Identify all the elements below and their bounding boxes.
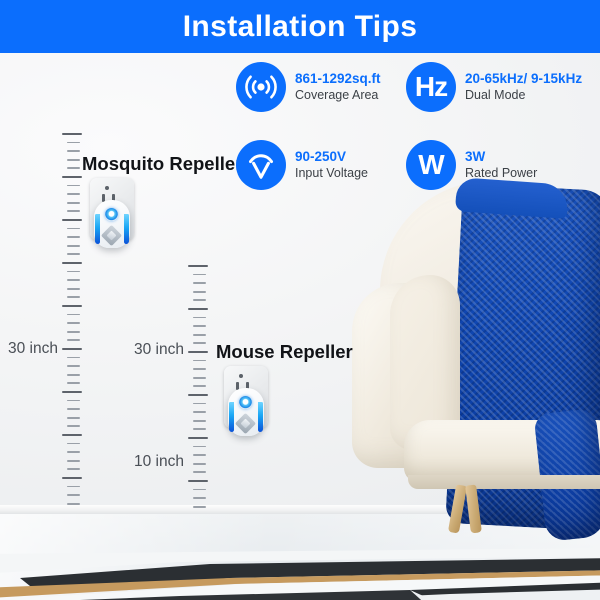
- ruler-tick-minor: [67, 150, 80, 152]
- header-banner: Installation Tips: [0, 0, 600, 53]
- ruler-tick-minor: [193, 360, 206, 362]
- ruler-tick-minor: [193, 446, 206, 448]
- ruler-tick-minor: [67, 486, 80, 488]
- badge-power-text: 3W Rated Power: [465, 149, 537, 181]
- ruler-tick-minor: [67, 253, 80, 255]
- badge-dual-mode-text: 20-65kHz/ 9-15kHz Dual Mode: [465, 71, 582, 103]
- voltage-v-icon: [236, 140, 286, 190]
- ruler-tick-major: [62, 434, 82, 436]
- ruler-tick-minor: [67, 331, 80, 333]
- ruler-tick-minor: [193, 368, 206, 370]
- ruler-tick-major: [62, 176, 82, 178]
- power-indicator-icon: [105, 208, 118, 221]
- ruler-tick-major: [188, 351, 208, 353]
- badge-voltage-caption: Input Voltage: [295, 166, 368, 181]
- ruler-tick-minor: [67, 365, 80, 367]
- ruler-tick-minor: [193, 334, 206, 336]
- badge-power-value: 3W: [465, 149, 537, 165]
- badge-rated-power: W 3W Rated Power: [406, 140, 537, 190]
- ruler-tick-minor: [193, 403, 206, 405]
- ruler-tick-minor: [67, 460, 80, 462]
- led-glow-left: [95, 214, 100, 244]
- infographic-canvas: Installation Tips 30 inch 30 inch 10 inc…: [0, 0, 600, 600]
- right-ruler: [188, 265, 212, 513]
- badge-coverage-caption: Coverage Area: [295, 88, 381, 103]
- measurement-label-left-30inch: 30 inch: [8, 340, 58, 358]
- badge-voltage-value: 90-250V: [295, 149, 368, 165]
- badge-dual-mode: Hz 20-65kHz/ 9-15kHz Dual Mode: [406, 62, 582, 112]
- ruler-tick-minor: [67, 451, 80, 453]
- ruler-tick-minor: [67, 271, 80, 273]
- chair-base-rail: [408, 475, 600, 489]
- badge-dual-mode-caption: Dual Mode: [465, 88, 582, 103]
- ruler-tick-minor: [67, 202, 80, 204]
- mosquito-repeller-label: Mosquito Repeller: [82, 153, 242, 175]
- ruler-tick-minor: [193, 342, 206, 344]
- ruler-tick-minor: [67, 374, 80, 376]
- ruler-tick-minor: [193, 497, 206, 499]
- ruler-tick-minor: [193, 463, 206, 465]
- mosquito-repeller-device: [90, 178, 136, 248]
- ruler-tick-minor: [193, 317, 206, 319]
- ruler-tick-minor: [67, 314, 80, 316]
- badge-coverage-area: 861-1292sq.ft Coverage Area: [236, 62, 381, 112]
- ruler-tick-minor: [193, 420, 206, 422]
- badge-power-caption: Rated Power: [465, 166, 537, 181]
- ruler-tick-minor: [193, 325, 206, 327]
- ruler-tick-minor: [67, 279, 80, 281]
- ruler-tick-major: [188, 394, 208, 396]
- measurement-label-right-10inch: 10 inch: [134, 453, 184, 471]
- power-indicator-icon: [239, 396, 252, 409]
- ruler-tick-minor: [193, 274, 206, 276]
- ruler-tick-major: [188, 480, 208, 482]
- ruler-tick-minor: [67, 339, 80, 341]
- ruler-tick-minor: [67, 400, 80, 402]
- ruler-tick-major: [62, 305, 82, 307]
- ruler-tick-minor: [193, 377, 206, 379]
- ruler-tick-minor: [67, 167, 80, 169]
- ruler-tick-minor: [67, 185, 80, 187]
- ruler-tick-major: [188, 265, 208, 267]
- watt-glyph: W: [418, 151, 443, 179]
- watt-w-icon: W: [406, 140, 456, 190]
- hz-glyph: Hz: [415, 73, 447, 101]
- measurement-label-right-30inch: 30 inch: [134, 341, 184, 359]
- ruler-tick-minor: [67, 193, 80, 195]
- badge-coverage-value: 861-1292sq.ft: [295, 71, 381, 87]
- ruler-tick-minor: [193, 291, 206, 293]
- badge-coverage-text: 861-1292sq.ft Coverage Area: [295, 71, 381, 103]
- badge-voltage-text: 90-250V Input Voltage: [295, 149, 368, 181]
- ruler-tick-major: [62, 477, 82, 479]
- ruler-tick-minor: [193, 411, 206, 413]
- ruler-tick-minor: [193, 282, 206, 284]
- ruler-tick-minor: [193, 489, 206, 491]
- ruler-tick-minor: [193, 454, 206, 456]
- ruler-tick-minor: [67, 503, 80, 505]
- armchair: [352, 175, 600, 535]
- ruler-tick-major: [62, 219, 82, 221]
- ruler-tick-minor: [67, 382, 80, 384]
- ruler-tick-minor: [67, 408, 80, 410]
- ruler-tick-minor: [67, 494, 80, 496]
- ruler-tick-minor: [67, 296, 80, 298]
- ruler-tick-minor: [67, 288, 80, 290]
- ruler-tick-minor: [67, 210, 80, 212]
- ruler-tick-major: [188, 437, 208, 439]
- ruler-tick-major: [188, 308, 208, 310]
- ruler-tick-minor: [193, 506, 206, 508]
- ruler-tick-minor: [67, 417, 80, 419]
- badge-input-voltage: 90-250V Input Voltage: [236, 140, 368, 190]
- ruler-tick-minor: [67, 443, 80, 445]
- striped-rug: [0, 548, 600, 600]
- ruler-tick-minor: [67, 425, 80, 427]
- ruler-tick-minor: [67, 245, 80, 247]
- badge-frequency-value: 20-65kHz/ 9-15kHz: [465, 71, 582, 87]
- ruler-tick-minor: [193, 385, 206, 387]
- ruler-tick-major: [62, 262, 82, 264]
- hz-icon: Hz: [406, 62, 456, 112]
- ruler-tick-minor: [67, 159, 80, 161]
- ruler-tick-minor: [193, 471, 206, 473]
- mouse-repeller-label: Mouse Repeller: [216, 341, 353, 363]
- ruler-tick-minor: [67, 468, 80, 470]
- led-glow-right: [258, 402, 263, 432]
- ruler-tick-minor: [193, 299, 206, 301]
- led-glow-right: [124, 214, 129, 244]
- ruler-tick-major: [62, 348, 82, 350]
- left-ruler: [62, 133, 86, 513]
- ruler-tick-minor: [67, 322, 80, 324]
- ruler-tick-minor: [67, 357, 80, 359]
- ruler-tick-minor: [67, 142, 80, 144]
- outlet-ground-slot: [239, 374, 243, 378]
- ruler-tick-major: [62, 133, 82, 135]
- ruler-tick-minor: [67, 236, 80, 238]
- ruler-tick-minor: [193, 428, 206, 430]
- outlet-ground-slot: [105, 186, 109, 190]
- led-glow-left: [229, 402, 234, 432]
- page-title: Installation Tips: [183, 12, 418, 42]
- signal-waves-icon: [236, 62, 286, 112]
- ruler-tick-minor: [67, 228, 80, 230]
- ruler-tick-major: [62, 391, 82, 393]
- spec-badge-group: 861-1292sq.ft Coverage Area Hz 20-65kHz/…: [232, 62, 600, 206]
- mouse-repeller-device: [224, 366, 270, 436]
